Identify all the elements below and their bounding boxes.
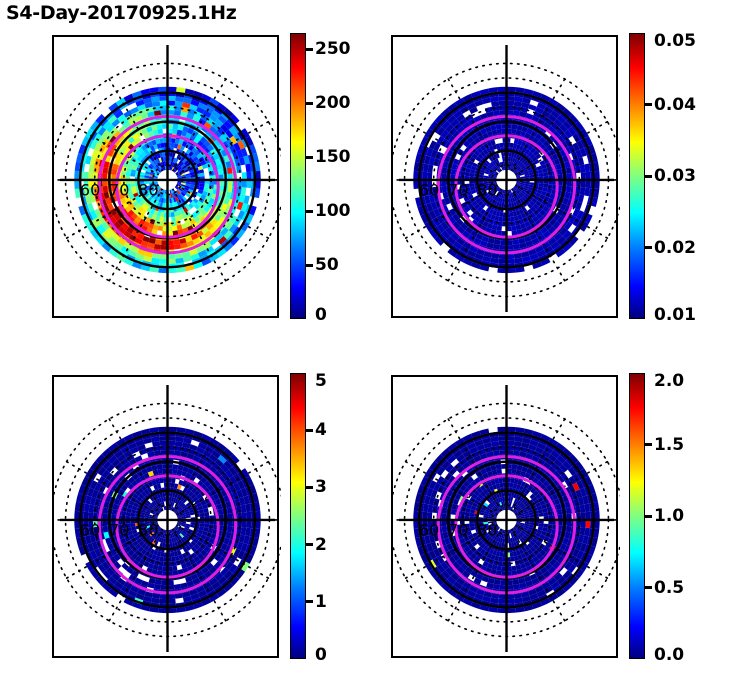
- colorbar-ticks-mean-s4: 0.010.020.030.040.05: [645, 33, 647, 319]
- colorbar-tick-mark: [645, 246, 652, 249]
- colorbar-tick-label: 0.02: [654, 238, 696, 258]
- latitude-label-70: 70: [448, 180, 468, 199]
- colorbar-tick-label: 1.5: [654, 435, 684, 455]
- latitude-label-70: 70: [448, 520, 468, 539]
- latitude-label-60: 60: [80, 180, 100, 199]
- latitude-label-70: 70: [109, 520, 129, 539]
- colorbar-tick-label: 250: [315, 39, 351, 59]
- colorbar-tick-label: 0.03: [654, 166, 696, 186]
- plot-area-occurrence-gt-15[interactable]: 607080: [391, 375, 618, 658]
- colorbar-tick-mark: [645, 443, 652, 446]
- latitude-label-80: 80: [138, 180, 158, 199]
- colorbar-tick-label: 0.05: [654, 31, 696, 51]
- colorbar-tick-mark: [306, 210, 313, 213]
- polar-plot-data-points: [54, 37, 281, 320]
- colorbar-tick-label: 0.0: [654, 645, 684, 665]
- colorbar-ticks-occurrence-gt-15: 0.00.51.01.52.0: [645, 373, 647, 659]
- latitude-label-80: 80: [477, 180, 497, 199]
- colorbar-tick-mark: [306, 543, 313, 546]
- colorbar-tick-label: 150: [315, 147, 351, 167]
- colorbar-gradient-mean-s4: [629, 33, 645, 319]
- colorbar-tick-mark: [306, 600, 313, 603]
- colorbar-tick-mark: [645, 586, 652, 589]
- colorbar-tick-label: 0.01: [654, 305, 696, 325]
- polar-plot-mean-s4: [393, 37, 620, 320]
- colorbar-tick-label: 100: [315, 201, 351, 221]
- colorbar-tick-mark: [306, 486, 313, 489]
- colorbar-tick-mark: [306, 264, 313, 267]
- colorbar-tick-label: 2.0: [654, 371, 684, 391]
- colorbar-tick-mark: [306, 102, 313, 105]
- colorbar-tick-label: 200: [315, 93, 351, 113]
- plot-area-mean-s4[interactable]: 607080: [391, 35, 618, 318]
- colorbar-gradient-data-points: [290, 33, 306, 319]
- colorbar-tick-label: 3: [315, 477, 327, 497]
- latitude-label-60: 60: [419, 520, 439, 539]
- colorbar-tick-mark: [306, 48, 313, 51]
- colorbar-tick-mark: [645, 103, 652, 106]
- colorbar-tick-mark: [645, 175, 652, 178]
- colorbar-tick-label: 2: [315, 535, 327, 555]
- colorbar-tick-label: 50: [315, 255, 339, 275]
- latitude-label-60: 60: [419, 180, 439, 199]
- plot-area-data-points[interactable]: 607080: [52, 35, 279, 318]
- colorbar-tick-mark: [645, 515, 652, 518]
- colorbar-tick-label: 4: [315, 420, 327, 440]
- colorbar-tick-label: 0.04: [654, 95, 696, 115]
- colorbar-tick-label: 5: [315, 371, 327, 391]
- colorbar-gradient-occurrence-gt-1: [290, 373, 306, 659]
- colorbar-tick-label: 0: [315, 645, 327, 665]
- colorbar-gradient-occurrence-gt-15: [629, 373, 645, 659]
- latitude-label-80: 80: [138, 520, 158, 539]
- latitude-label-80: 80: [477, 520, 497, 539]
- latitude-label-60: 60: [80, 520, 100, 539]
- colorbar-ticks-data-points: 050100150200250: [306, 33, 308, 319]
- page-title: S4-Day-20170925.1Hz: [6, 2, 237, 24]
- colorbar-tick-mark: [306, 429, 313, 432]
- latitude-label-70: 70: [109, 180, 129, 199]
- colorbar-tick-label: 1: [315, 592, 327, 612]
- colorbar-tick-label: 0.5: [654, 578, 684, 598]
- polar-plot-occurrence-gt-15: [393, 377, 620, 660]
- colorbar-tick-mark: [306, 156, 313, 159]
- plot-area-occurrence-gt-1[interactable]: 607080: [52, 375, 279, 658]
- colorbar-tick-label: 0: [315, 305, 327, 325]
- colorbar-tick-label: 1.0: [654, 506, 684, 526]
- polar-plot-occurrence-gt-1: [54, 377, 281, 660]
- colorbar-ticks-occurrence-gt-1: 012345: [306, 373, 308, 659]
